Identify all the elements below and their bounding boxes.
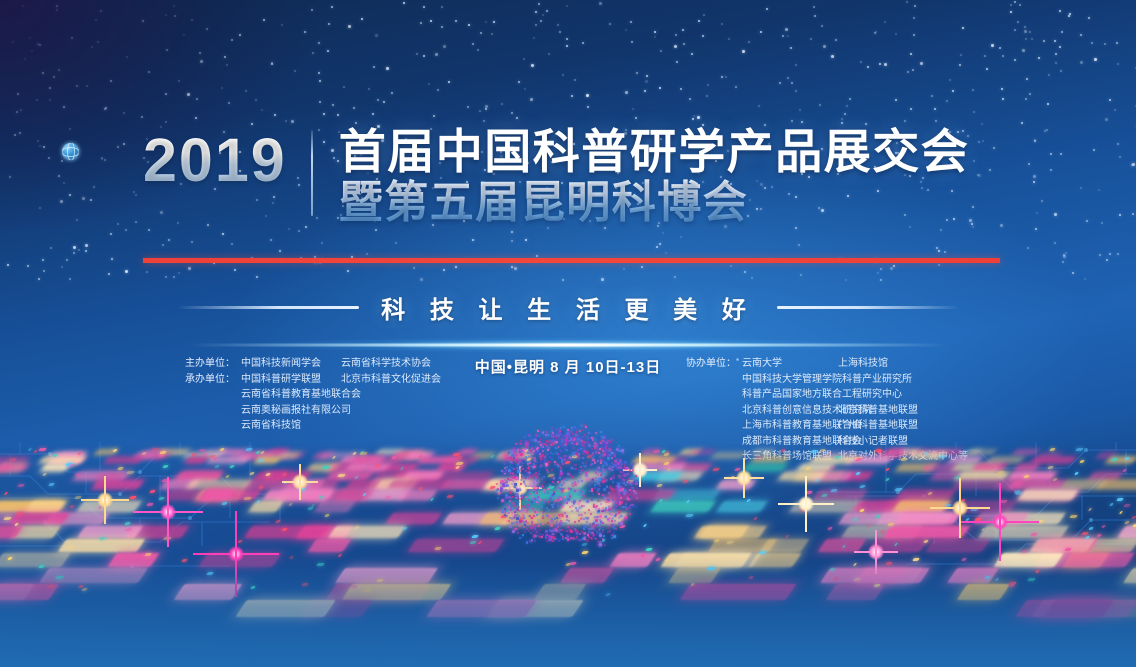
ground-speck bbox=[146, 503, 154, 506]
credit-values: 北京科普创意信息技术研究院北京科普基地联盟 bbox=[742, 403, 918, 419]
ground-speck bbox=[734, 468, 741, 471]
ground-speck bbox=[961, 558, 967, 561]
ground-speck bbox=[655, 558, 661, 561]
ground-tile bbox=[308, 539, 352, 552]
ground-speck bbox=[181, 559, 188, 562]
tagline-text: 科 技 让 生 活 更 美 好 bbox=[381, 290, 755, 325]
ground-speck bbox=[1079, 460, 1085, 463]
poster-canvas: 2019 首届中国科普研学产品展交会 暨第五届昆明科博会 科 技 让 生 活 更… bbox=[0, 0, 1136, 667]
page-title: 首届中国科普研学产品展交会 bbox=[339, 126, 970, 178]
ground-speck bbox=[69, 505, 75, 508]
ground-speck bbox=[1049, 448, 1056, 451]
ground-tile bbox=[896, 490, 956, 500]
ground-tile bbox=[235, 600, 335, 617]
ground-tile bbox=[650, 501, 715, 512]
ground-tile bbox=[987, 457, 1024, 463]
ground-tile bbox=[560, 568, 614, 583]
ground-speck bbox=[68, 464, 74, 467]
credit-label: 主办单位： bbox=[185, 356, 241, 372]
credit-organization: 云南大学 bbox=[742, 356, 838, 372]
ground-speck bbox=[780, 449, 786, 452]
ground-speck bbox=[307, 507, 314, 510]
ground-tile bbox=[972, 464, 1008, 471]
ground-speck bbox=[995, 578, 999, 581]
ground-tile bbox=[883, 526, 970, 538]
ground-speck bbox=[402, 527, 408, 530]
particle-sphere bbox=[491, 413, 641, 563]
ground-speck bbox=[245, 448, 253, 451]
ground-tile bbox=[716, 501, 767, 512]
ground-speck bbox=[158, 497, 165, 500]
ground-speck bbox=[221, 502, 228, 505]
ground-speck bbox=[430, 498, 434, 501]
ground-tile bbox=[743, 464, 788, 471]
ground-speck bbox=[112, 449, 118, 452]
ground-tile bbox=[92, 480, 144, 489]
title-row: 2019 首届中国科普研学产品展交会 暨第五届昆明科博会 bbox=[0, 126, 1136, 228]
ground-speck bbox=[1081, 532, 1089, 535]
credit-row: 上海市科普教育基地联合会广州科普基地联盟 bbox=[686, 418, 968, 434]
ground-speck bbox=[748, 576, 754, 579]
credit-organization: 中国科技大学管理学院科普产业研究所 bbox=[742, 372, 838, 388]
ground-tile bbox=[385, 513, 441, 524]
ground-speck bbox=[1109, 503, 1114, 506]
ground-speck bbox=[785, 535, 789, 538]
credit-organization: 上海市科普教育基地联合会 bbox=[742, 418, 838, 434]
credit-organization: 中国科技新闻学会 bbox=[241, 356, 341, 372]
ground-speck bbox=[1124, 521, 1130, 524]
ground-tile bbox=[335, 490, 374, 500]
ground-speck bbox=[1074, 472, 1079, 475]
ground-tile bbox=[978, 526, 1069, 538]
ground-speck bbox=[117, 467, 124, 470]
credit-row: 云南省科技馆 bbox=[185, 418, 441, 434]
ground-tile bbox=[0, 553, 71, 567]
ground-tile bbox=[993, 553, 1063, 567]
ground-tile bbox=[947, 568, 999, 583]
ground-tile bbox=[328, 526, 406, 538]
ground-tile bbox=[1117, 526, 1136, 538]
ground-tile bbox=[1018, 490, 1079, 500]
ground-speck bbox=[237, 540, 243, 543]
credit-label: 协办单位：* bbox=[686, 356, 742, 372]
ground-speck bbox=[446, 495, 454, 498]
credit-label: 承办单位： bbox=[185, 372, 241, 388]
ground-speck bbox=[250, 586, 256, 589]
ground-speck bbox=[885, 478, 890, 481]
ground-tile bbox=[926, 539, 991, 552]
ground-tile bbox=[1014, 464, 1040, 471]
ground-tile bbox=[868, 539, 929, 552]
ground-speck bbox=[129, 496, 137, 499]
ground-tile bbox=[711, 453, 745, 458]
credit-organization: 北京市科普文化促进会 bbox=[341, 372, 441, 388]
tagline-rule-left bbox=[177, 306, 359, 309]
credit-organization: 云南省科普教育基地联合会 bbox=[241, 387, 341, 403]
ground-speck bbox=[923, 540, 929, 543]
ground-speck bbox=[81, 588, 88, 591]
ground-speck bbox=[33, 450, 38, 453]
ground-tile bbox=[957, 584, 1011, 600]
ground-tile bbox=[198, 553, 281, 567]
ground-speck bbox=[605, 593, 611, 596]
ground-speck bbox=[74, 496, 82, 499]
ground-speck bbox=[124, 522, 131, 525]
ground-tile bbox=[77, 526, 143, 538]
ground-tile bbox=[680, 584, 797, 600]
ground-tile bbox=[314, 501, 355, 512]
ground-speck bbox=[663, 453, 670, 456]
ground-speck bbox=[900, 458, 908, 461]
credit-organization: 云南奥秘画报社有限公司 bbox=[241, 403, 341, 419]
ground-speck bbox=[827, 527, 833, 530]
ground-speck bbox=[1027, 578, 1036, 581]
ground-tile bbox=[760, 539, 810, 552]
ground-speck bbox=[1122, 469, 1127, 472]
ground-speck bbox=[289, 556, 294, 559]
credit-values: 科普产品国家地方联合工程研究中心 bbox=[742, 387, 838, 403]
ground-tile bbox=[925, 464, 957, 471]
ground-speck bbox=[1088, 527, 1094, 530]
ground-speck bbox=[48, 483, 55, 486]
ground-tile bbox=[699, 526, 767, 538]
ground-tile bbox=[948, 457, 982, 463]
credits-left-block: 主办单位：中国科技新闻学会云南省科学技术协会承办单位：中国科普研学联盟北京市科普… bbox=[185, 356, 441, 434]
ground-speck bbox=[944, 504, 952, 507]
ground-tile bbox=[534, 584, 587, 600]
ground-speck bbox=[819, 449, 826, 452]
ground-tile bbox=[634, 464, 686, 471]
ground-speck bbox=[853, 563, 857, 566]
ground-speck bbox=[17, 484, 25, 487]
ground-speck bbox=[810, 450, 818, 453]
ground-tile bbox=[408, 539, 505, 552]
ground-speck bbox=[1123, 504, 1131, 507]
credit-values: 中国科技大学管理学院科普产业研究所 bbox=[742, 372, 838, 388]
credit-row: 承办单位：中国科普研学联盟北京市科普文化促进会 bbox=[185, 372, 441, 388]
ground-tile bbox=[876, 513, 953, 524]
ground-tile bbox=[104, 457, 143, 463]
ground-tile bbox=[174, 584, 243, 600]
ground-speck bbox=[643, 524, 647, 527]
credit-organization: 北京科普基地联盟 bbox=[838, 403, 918, 419]
ground-speck bbox=[206, 572, 214, 575]
ground-speck bbox=[1116, 498, 1124, 501]
ground-speck bbox=[471, 535, 479, 538]
credit-values: 云南奥秘画报社有限公司 bbox=[241, 403, 341, 419]
ground-tile bbox=[668, 568, 721, 583]
credit-values: 云南省科普教育基地联合会 bbox=[241, 387, 341, 403]
ground-speck bbox=[685, 514, 694, 517]
ground-speck bbox=[324, 514, 330, 517]
ground-speck bbox=[712, 468, 720, 471]
ground-tile bbox=[373, 457, 404, 463]
ground-speck bbox=[814, 479, 820, 482]
credit-row: 中国科技大学管理学院科普产业研究所 bbox=[686, 372, 968, 388]
ground-speck bbox=[885, 562, 893, 565]
ground-speck bbox=[1047, 466, 1054, 469]
credit-asterisk-icon: * bbox=[736, 354, 739, 370]
credit-row: 科普产品国家地方联合工程研究中心 bbox=[686, 387, 968, 403]
ground-speck bbox=[1132, 524, 1136, 527]
ground-tile bbox=[326, 472, 372, 480]
ground-tile bbox=[186, 480, 251, 489]
ground-tile bbox=[1013, 450, 1040, 454]
globe-icon bbox=[62, 143, 79, 160]
ground-speck bbox=[805, 491, 813, 494]
date-location-text: 中国•昆明 8 月 10日-13日 bbox=[475, 356, 661, 377]
ground-tile bbox=[1044, 600, 1113, 617]
ground-tile bbox=[39, 457, 85, 463]
ground-tile bbox=[1131, 472, 1136, 480]
ground-tile bbox=[969, 450, 997, 454]
ground-speck bbox=[912, 558, 920, 561]
ground-speck bbox=[1075, 448, 1084, 451]
ground-speck bbox=[753, 517, 758, 520]
ground-speck bbox=[965, 518, 970, 521]
ground-speck bbox=[4, 492, 8, 495]
credit-row: 云南省科普教育基地联合会 bbox=[185, 387, 441, 403]
page-subtitle: 暨第五届昆明科博会 bbox=[339, 178, 970, 228]
credit-values: 云南大学上海科技馆 bbox=[742, 356, 888, 372]
ground-speck bbox=[229, 465, 235, 468]
ground-speck bbox=[316, 563, 325, 566]
credit-row: 北京科普创意信息技术研究院北京科普基地联盟 bbox=[686, 403, 968, 419]
ground-tile bbox=[0, 464, 29, 471]
ground-tile bbox=[818, 539, 867, 552]
ground-speck bbox=[214, 465, 220, 468]
ground-tile bbox=[1007, 472, 1056, 480]
ground-tile bbox=[1123, 568, 1136, 583]
ground-speck bbox=[730, 476, 735, 479]
ground-tile bbox=[1098, 480, 1136, 489]
ground-speck bbox=[1035, 570, 1040, 573]
credit-organization: 北京科普创意信息技术研究院 bbox=[742, 403, 838, 419]
ground-speck bbox=[1069, 515, 1078, 518]
ground-tile bbox=[264, 472, 310, 480]
ground-speck bbox=[225, 475, 230, 478]
ground-speck bbox=[829, 466, 835, 469]
ground-speck bbox=[653, 450, 661, 453]
ground-speck bbox=[859, 485, 866, 488]
ground-speck bbox=[885, 468, 890, 471]
ground-speck bbox=[42, 473, 47, 476]
ground-tile bbox=[243, 480, 305, 489]
red-divider-rule bbox=[143, 258, 1000, 263]
ground-speck bbox=[28, 448, 32, 451]
ground-tile bbox=[1031, 457, 1076, 463]
credit-values: 中国科普研学联盟北京市科普文化促进会 bbox=[241, 372, 441, 388]
ground-tile bbox=[335, 568, 438, 583]
ground-tile bbox=[342, 584, 452, 600]
ground-speck bbox=[162, 465, 169, 468]
tagline-rule-right bbox=[777, 306, 959, 309]
ground-tile bbox=[308, 480, 339, 489]
ground-speck bbox=[38, 448, 47, 451]
credit-organization: 广州科普基地联盟 bbox=[838, 418, 918, 434]
ground-speck bbox=[301, 583, 309, 586]
ground-tile bbox=[426, 600, 536, 617]
ground-speck bbox=[126, 471, 135, 474]
ground-tile bbox=[346, 464, 391, 471]
ground-speck bbox=[338, 554, 342, 557]
ground-tile bbox=[441, 472, 493, 480]
ground-tile bbox=[185, 457, 208, 463]
ground-speck bbox=[288, 503, 293, 506]
credit-organization: 云南省科学技术协会 bbox=[341, 356, 431, 372]
ground-speck bbox=[645, 548, 653, 551]
ground-speck bbox=[1096, 534, 1102, 537]
poster-header: 2019 首届中国科普研学产品展交会 暨第五届昆明科博会 bbox=[0, 126, 1136, 228]
ground-speck bbox=[1131, 516, 1136, 519]
ground-tile bbox=[660, 553, 751, 567]
ground-tile bbox=[1088, 472, 1122, 480]
ground-tile bbox=[820, 568, 930, 583]
ground-speck bbox=[38, 565, 45, 568]
credit-row: 云南奥秘画报社有限公司 bbox=[185, 403, 441, 419]
ground-speck bbox=[249, 472, 255, 475]
ground-tile bbox=[1029, 539, 1096, 552]
ground-speck bbox=[1101, 525, 1106, 528]
ground-tile bbox=[690, 450, 716, 454]
ground-tile bbox=[437, 464, 467, 471]
credit-organization: 中国科普研学联盟 bbox=[241, 372, 341, 388]
ground-tile bbox=[248, 501, 283, 512]
ground-tile bbox=[25, 501, 66, 512]
title-divider bbox=[311, 130, 313, 216]
title-group: 首届中国科普研学产品展交会 暨第五届昆明科博会 bbox=[339, 126, 970, 228]
ground-tile bbox=[751, 450, 775, 454]
tagline-row: 科 技 让 生 活 更 美 好 bbox=[0, 290, 1136, 325]
ground-speck bbox=[1088, 508, 1092, 511]
ground-tile bbox=[39, 568, 148, 583]
credit-row: 主办单位：中国科技新闻学会云南省科学技术协会 bbox=[185, 356, 441, 372]
ground-tile bbox=[107, 553, 159, 567]
credit-row: 协办单位：*云南大学上海科技馆 bbox=[686, 356, 968, 372]
ground-speck bbox=[275, 520, 281, 523]
ground-tile bbox=[176, 472, 222, 480]
ground-speck bbox=[1008, 582, 1017, 585]
ground-tile bbox=[402, 472, 442, 480]
credit-values: 云南省科技馆 bbox=[241, 418, 341, 434]
ground-tile bbox=[418, 457, 460, 463]
credit-organization: 上海科技馆 bbox=[838, 356, 888, 372]
ground-tile bbox=[263, 490, 335, 500]
ground-speck bbox=[149, 490, 156, 493]
ground-tile bbox=[749, 472, 792, 480]
ground-tile bbox=[892, 501, 949, 512]
ground-tile bbox=[952, 480, 1002, 489]
credit-values: 中国科技新闻学会云南省科学技术协会 bbox=[241, 356, 431, 372]
ground-speck bbox=[939, 455, 947, 458]
ground-tile bbox=[716, 480, 756, 489]
ground-tile bbox=[76, 501, 141, 512]
ground-speck bbox=[163, 537, 172, 540]
credit-organization: 云南省科技馆 bbox=[241, 418, 341, 434]
credit-values: 上海市科普教育基地联合会广州科普基地联盟 bbox=[742, 418, 918, 434]
year-2019: 2019 bbox=[143, 126, 287, 191]
credit-organization: 科普产品国家地方联合工程研究中心 bbox=[742, 387, 838, 403]
ground-speck bbox=[1119, 511, 1123, 514]
ground-speck bbox=[359, 452, 368, 455]
ground-tile bbox=[956, 501, 1016, 512]
ground-tile bbox=[810, 457, 855, 463]
